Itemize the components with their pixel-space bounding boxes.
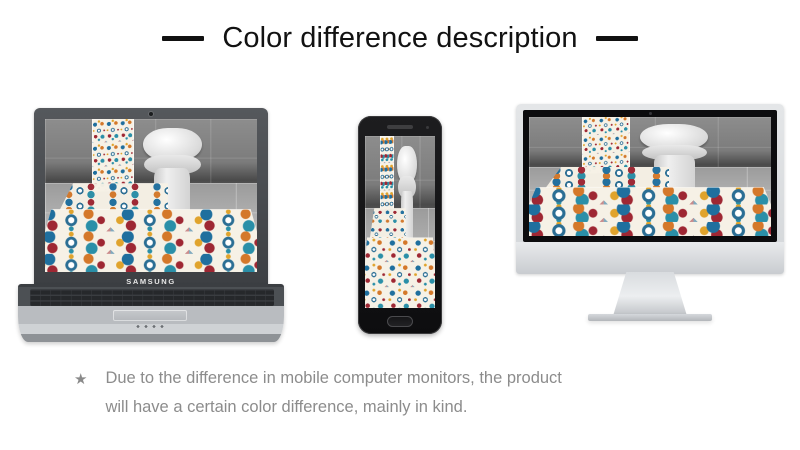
title-dash-left	[162, 36, 204, 41]
disclaimer-lines: Due to the difference in mobile computer…	[105, 367, 561, 418]
device-showcase: SAMSUNG	[0, 100, 800, 350]
disclaimer-line-1: Due to the difference in mobile computer…	[105, 367, 561, 389]
title-text: Color difference description	[222, 22, 577, 55]
device-laptop: SAMSUNG	[18, 108, 284, 344]
laptop-screen	[45, 119, 257, 272]
star-icon: ★	[74, 367, 87, 393]
monitor-stand-neck	[613, 272, 687, 316]
laptop-base	[18, 284, 284, 342]
phone-speaker-icon	[387, 125, 413, 129]
artwork-tile-mat	[529, 187, 771, 236]
page-root: Color difference description	[0, 0, 800, 450]
monitor-screen	[529, 117, 771, 236]
device-phone	[358, 116, 442, 334]
screen-artwork-bathroom	[45, 119, 257, 272]
phone-home-button[interactable]	[387, 316, 413, 327]
artwork-tile-strip	[582, 117, 630, 174]
disclaimer-note: ★ Due to the difference in mobile comput…	[74, 367, 734, 418]
webcam-icon	[149, 112, 153, 116]
laptop-trackpad[interactable]	[113, 310, 187, 321]
monitor-bezel	[523, 110, 777, 242]
monitor-stand-base	[588, 314, 712, 321]
disclaimer-line-2: will have a certain color difference, ma…	[105, 396, 561, 418]
page-title: Color difference description	[0, 22, 800, 55]
phone-screen	[365, 136, 435, 308]
artwork-tile-strip	[380, 136, 394, 219]
laptop-lid: SAMSUNG	[34, 108, 268, 288]
artwork-tile-mat	[45, 209, 257, 272]
screen-artwork-bathroom	[365, 136, 435, 308]
title-dash-right	[596, 36, 638, 41]
artwork-tile-mat	[365, 237, 435, 308]
artwork-tile-mat-upper	[369, 208, 405, 242]
artwork-tile-strip	[92, 119, 134, 192]
monitor-body	[516, 104, 784, 274]
device-monitor	[516, 104, 784, 334]
laptop-keyboard[interactable]	[30, 289, 274, 306]
screen-artwork-bathroom	[529, 117, 771, 236]
monitor-chin	[516, 242, 784, 274]
laptop-status-leds	[134, 325, 168, 328]
phone-front-camera-icon	[426, 126, 429, 129]
monitor-camera-icon	[649, 112, 652, 115]
